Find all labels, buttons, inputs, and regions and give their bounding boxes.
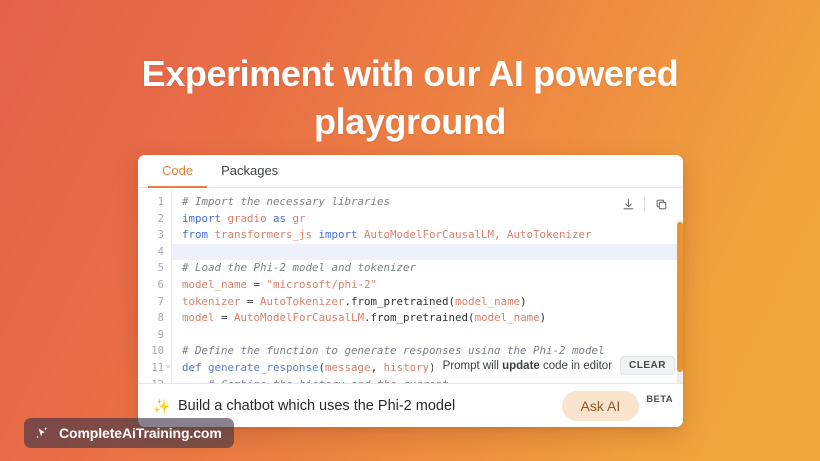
line-number: 9 xyxy=(138,327,164,344)
code-line[interactable] xyxy=(172,244,683,261)
code-token: history xyxy=(384,361,430,374)
prompt-hint-before: Prompt will xyxy=(443,360,502,372)
code-token: AutoTokenizer xyxy=(260,295,345,308)
sparkle-cursor-icon xyxy=(33,424,51,442)
tab-packages-label: Packages xyxy=(221,163,278,178)
code-token: transformers_js xyxy=(215,228,319,241)
page-title: Experiment with our AI powered playgroun… xyxy=(60,50,760,145)
sparkle-icon: ✨ xyxy=(152,399,172,413)
page-root: Experiment with our AI powered playgroun… xyxy=(0,0,820,461)
line-number: 12 xyxy=(138,377,164,383)
code-token: as xyxy=(273,212,293,225)
code-token: .from_pretrained( xyxy=(364,311,475,324)
editor-actions xyxy=(616,192,673,216)
line-number: 4 xyxy=(138,244,164,261)
code-token: model_name xyxy=(182,278,254,291)
code-line[interactable]: model_name = "microsoft/phi-2" xyxy=(172,277,683,294)
line-number: 7 xyxy=(138,294,164,311)
prompt-hint-after: code in editor xyxy=(540,360,612,372)
code-editor[interactable]: 123456789101112 # Import the necessary l… xyxy=(138,188,683,383)
line-number: 6 xyxy=(138,277,164,294)
line-number: 5 xyxy=(138,260,164,277)
code-token: import xyxy=(319,228,365,241)
code-token: message xyxy=(325,361,371,374)
code-line[interactable]: # Combine the history and the current xyxy=(172,377,683,383)
prompt-hint: Prompt will update code in editor CLEAR xyxy=(433,354,675,377)
code-token: gradio xyxy=(228,212,274,225)
editor-scrollbar[interactable] xyxy=(677,220,683,383)
tab-code[interactable]: Code xyxy=(148,155,207,188)
prompt-hint-text: Prompt will update code in editor xyxy=(443,360,612,372)
code-token: = xyxy=(221,311,234,324)
code-token: tokenizer xyxy=(182,295,247,308)
scrollbar-thumb[interactable] xyxy=(677,222,683,372)
code-token: = xyxy=(247,295,260,308)
code-token: AutoModelForCausalLM xyxy=(234,311,364,324)
code-line[interactable]: # Import the necessary libraries xyxy=(172,194,683,211)
tab-packages[interactable]: Packages xyxy=(207,155,292,188)
ask-ai-button[interactable]: Ask AI xyxy=(562,391,640,421)
prompt-hint-emphasis: update xyxy=(502,360,540,372)
code-line[interactable]: model = AutoModelForCausalLM.from_pretra… xyxy=(172,310,683,327)
copy-icon[interactable] xyxy=(651,194,671,214)
code-token: = xyxy=(254,278,267,291)
code-line[interactable]: import gradio as gr xyxy=(172,211,683,228)
action-divider xyxy=(644,197,645,211)
editor-tabbar: Code Packages xyxy=(138,155,683,188)
code-token: def xyxy=(182,361,208,374)
line-number: 1 xyxy=(138,194,164,211)
code-token: import xyxy=(182,212,228,225)
code-token: ) xyxy=(520,295,527,308)
code-token: from xyxy=(182,228,215,241)
code-token: # Import the necessary libraries xyxy=(182,195,390,208)
line-number: 11 xyxy=(138,360,164,377)
beta-badge: BETA xyxy=(646,394,673,405)
code-token: .from_pretrained( xyxy=(345,295,456,308)
clear-button[interactable]: CLEAR xyxy=(620,356,675,375)
code-token: model_name xyxy=(475,311,540,324)
code-token: , xyxy=(371,361,384,374)
code-playground-card: Code Packages 123456789101112 # Import t… xyxy=(138,155,683,427)
prompt-input[interactable]: Build a chatbot which uses the Phi-2 mod… xyxy=(172,398,562,414)
code-token: # Load the Phi-2 model and tokenizer xyxy=(182,261,416,274)
line-number-gutter: 123456789101112 xyxy=(138,188,172,383)
watermark: CompleteAiTraining.com xyxy=(24,418,234,448)
code-line[interactable]: # Load the Phi-2 model and tokenizer xyxy=(172,260,683,277)
code-token: model_name xyxy=(455,295,520,308)
tab-code-label: Code xyxy=(162,163,193,178)
code-token: # Combine the history and the current xyxy=(182,378,449,383)
download-icon[interactable] xyxy=(618,194,638,214)
code-line[interactable]: from transformers_js import AutoModelFor… xyxy=(172,227,683,244)
code-line[interactable]: tokenizer = AutoTokenizer.from_pretraine… xyxy=(172,294,683,311)
code-token: generate_response xyxy=(208,361,319,374)
watermark-label: CompleteAiTraining.com xyxy=(59,425,222,441)
line-number: 10 xyxy=(138,343,164,360)
code-token: gr xyxy=(293,212,306,225)
code-token: AutoModelForCausalLM, AutoTokenizer xyxy=(364,228,592,241)
code-line[interactable] xyxy=(172,327,683,344)
line-number: 2 xyxy=(138,211,164,228)
code-token: ) xyxy=(540,311,547,324)
line-number: 3 xyxy=(138,227,164,244)
code-token: "microsoft/phi-2" xyxy=(267,278,378,291)
line-number: 8 xyxy=(138,310,164,327)
code-token: model xyxy=(182,311,221,324)
